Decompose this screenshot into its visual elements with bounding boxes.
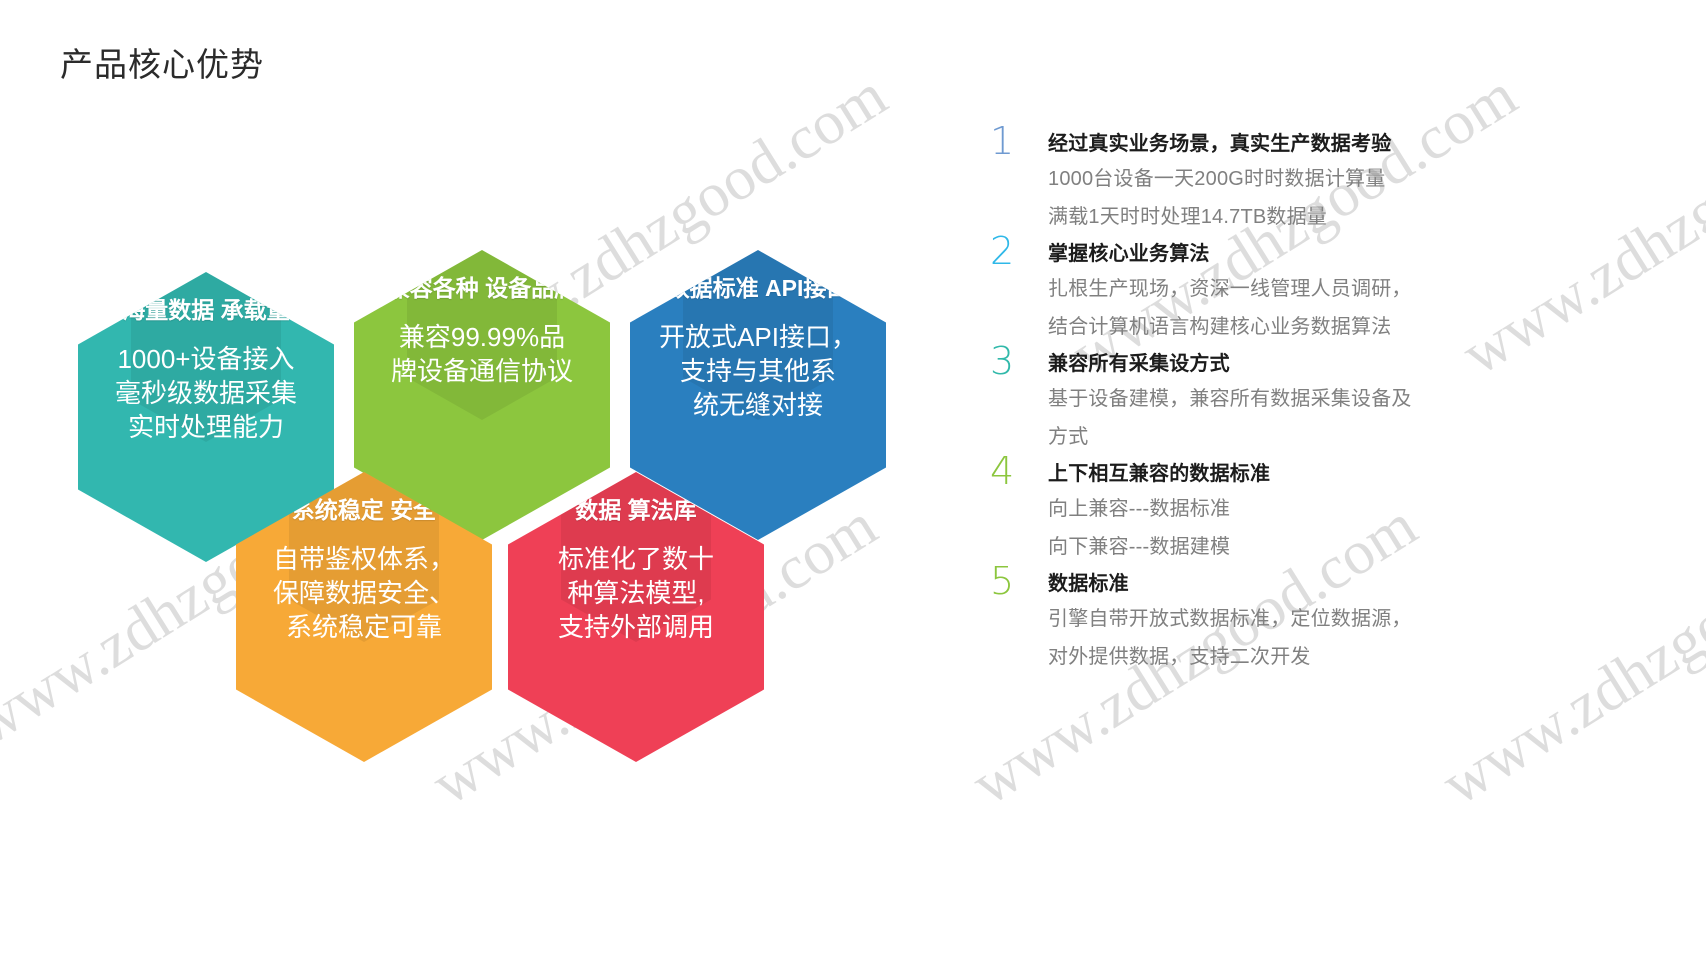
hexagon-cluster: 海量数据 承载量 1000+设备接入 毫秒级数据采集 实时处理能力 兼容各种 设… bbox=[0, 120, 960, 760]
hexagon-body: 自带鉴权体系， 保障数据安全、 系统稳定可靠 bbox=[273, 543, 455, 644]
page-title: 产品核心优势 bbox=[60, 38, 264, 86]
list-item-description: 引擎自带开放式数据标准，定位数据源， 对外提供数据，支持二次开发 bbox=[1048, 600, 1690, 676]
advantages-list: 1 经过真实业务场景，真实生产数据考验 1000台设备一天200G时时数据计算量… bbox=[990, 128, 1690, 678]
hexagon-body: 开放式API接口， 支持与其他系 统无缝对接 bbox=[659, 321, 857, 422]
list-item-description: 1000台设备一天200G时时数据计算量 满载1天时时处理14.7TB数据量 bbox=[1048, 160, 1690, 236]
hexagon-body: 1000+设备接入 毫秒级数据采集 实时处理能力 bbox=[115, 343, 297, 444]
hexagon-heading: 兼容各种 设备品牌 bbox=[387, 274, 577, 303]
list-item-description: 向上兼容---数据标准 向下兼容---数据建模 bbox=[1048, 490, 1690, 566]
list-item-number: 3 bbox=[990, 342, 1014, 380]
list-item-description: 扎根生产现场，资深一线管理人员调研， 结合计算机语言构建核心业务数据算法 bbox=[1048, 270, 1690, 346]
list-item[interactable]: 2 掌握核心业务算法 扎根生产现场，资深一线管理人员调研， 结合计算机语言构建核… bbox=[990, 238, 1690, 346]
list-item[interactable]: 4 上下相互兼容的数据标准 向上兼容---数据标准 向下兼容---数据建模 bbox=[990, 458, 1690, 566]
hexagon-body: 标准化了数十 种算法模型, 支持外部调用 bbox=[558, 543, 714, 644]
hexagon-heading: 数据标准 API接口 bbox=[667, 274, 850, 303]
list-item-title: 兼容所有采集设方式 bbox=[1048, 348, 1690, 380]
list-item-title: 经过真实业务场景，真实生产数据考验 bbox=[1048, 128, 1690, 160]
list-item-description: 基于设备建模，兼容所有数据采集设备及 方式 bbox=[1048, 380, 1690, 456]
list-item-number: 5 bbox=[990, 562, 1014, 600]
hexagon-heading: 海量数据 承载量 bbox=[122, 296, 289, 325]
list-item-title: 上下相互兼容的数据标准 bbox=[1048, 458, 1690, 490]
list-item-number: 4 bbox=[990, 452, 1014, 490]
list-item-number: 1 bbox=[990, 122, 1014, 160]
list-item-title: 掌握核心业务算法 bbox=[1048, 238, 1690, 270]
hexagon-heading: 数据 算法库 bbox=[575, 496, 696, 525]
slide-canvas: www.zdhzgood.com www.zdhzgood.com www.zd… bbox=[0, 0, 1706, 960]
list-item[interactable]: 1 经过真实业务场景，真实生产数据考验 1000台设备一天200G时时数据计算量… bbox=[990, 128, 1690, 236]
hexagon-body: 兼容99.99%品 牌设备通信协议 bbox=[391, 321, 573, 389]
list-item[interactable]: 5 数据标准 引擎自带开放式数据标准，定位数据源， 对外提供数据，支持二次开发 bbox=[990, 568, 1690, 676]
list-item-number: 2 bbox=[990, 232, 1014, 270]
list-item[interactable]: 3 兼容所有采集设方式 基于设备建模，兼容所有数据采集设备及 方式 bbox=[990, 348, 1690, 456]
list-item-title: 数据标准 bbox=[1048, 568, 1690, 600]
